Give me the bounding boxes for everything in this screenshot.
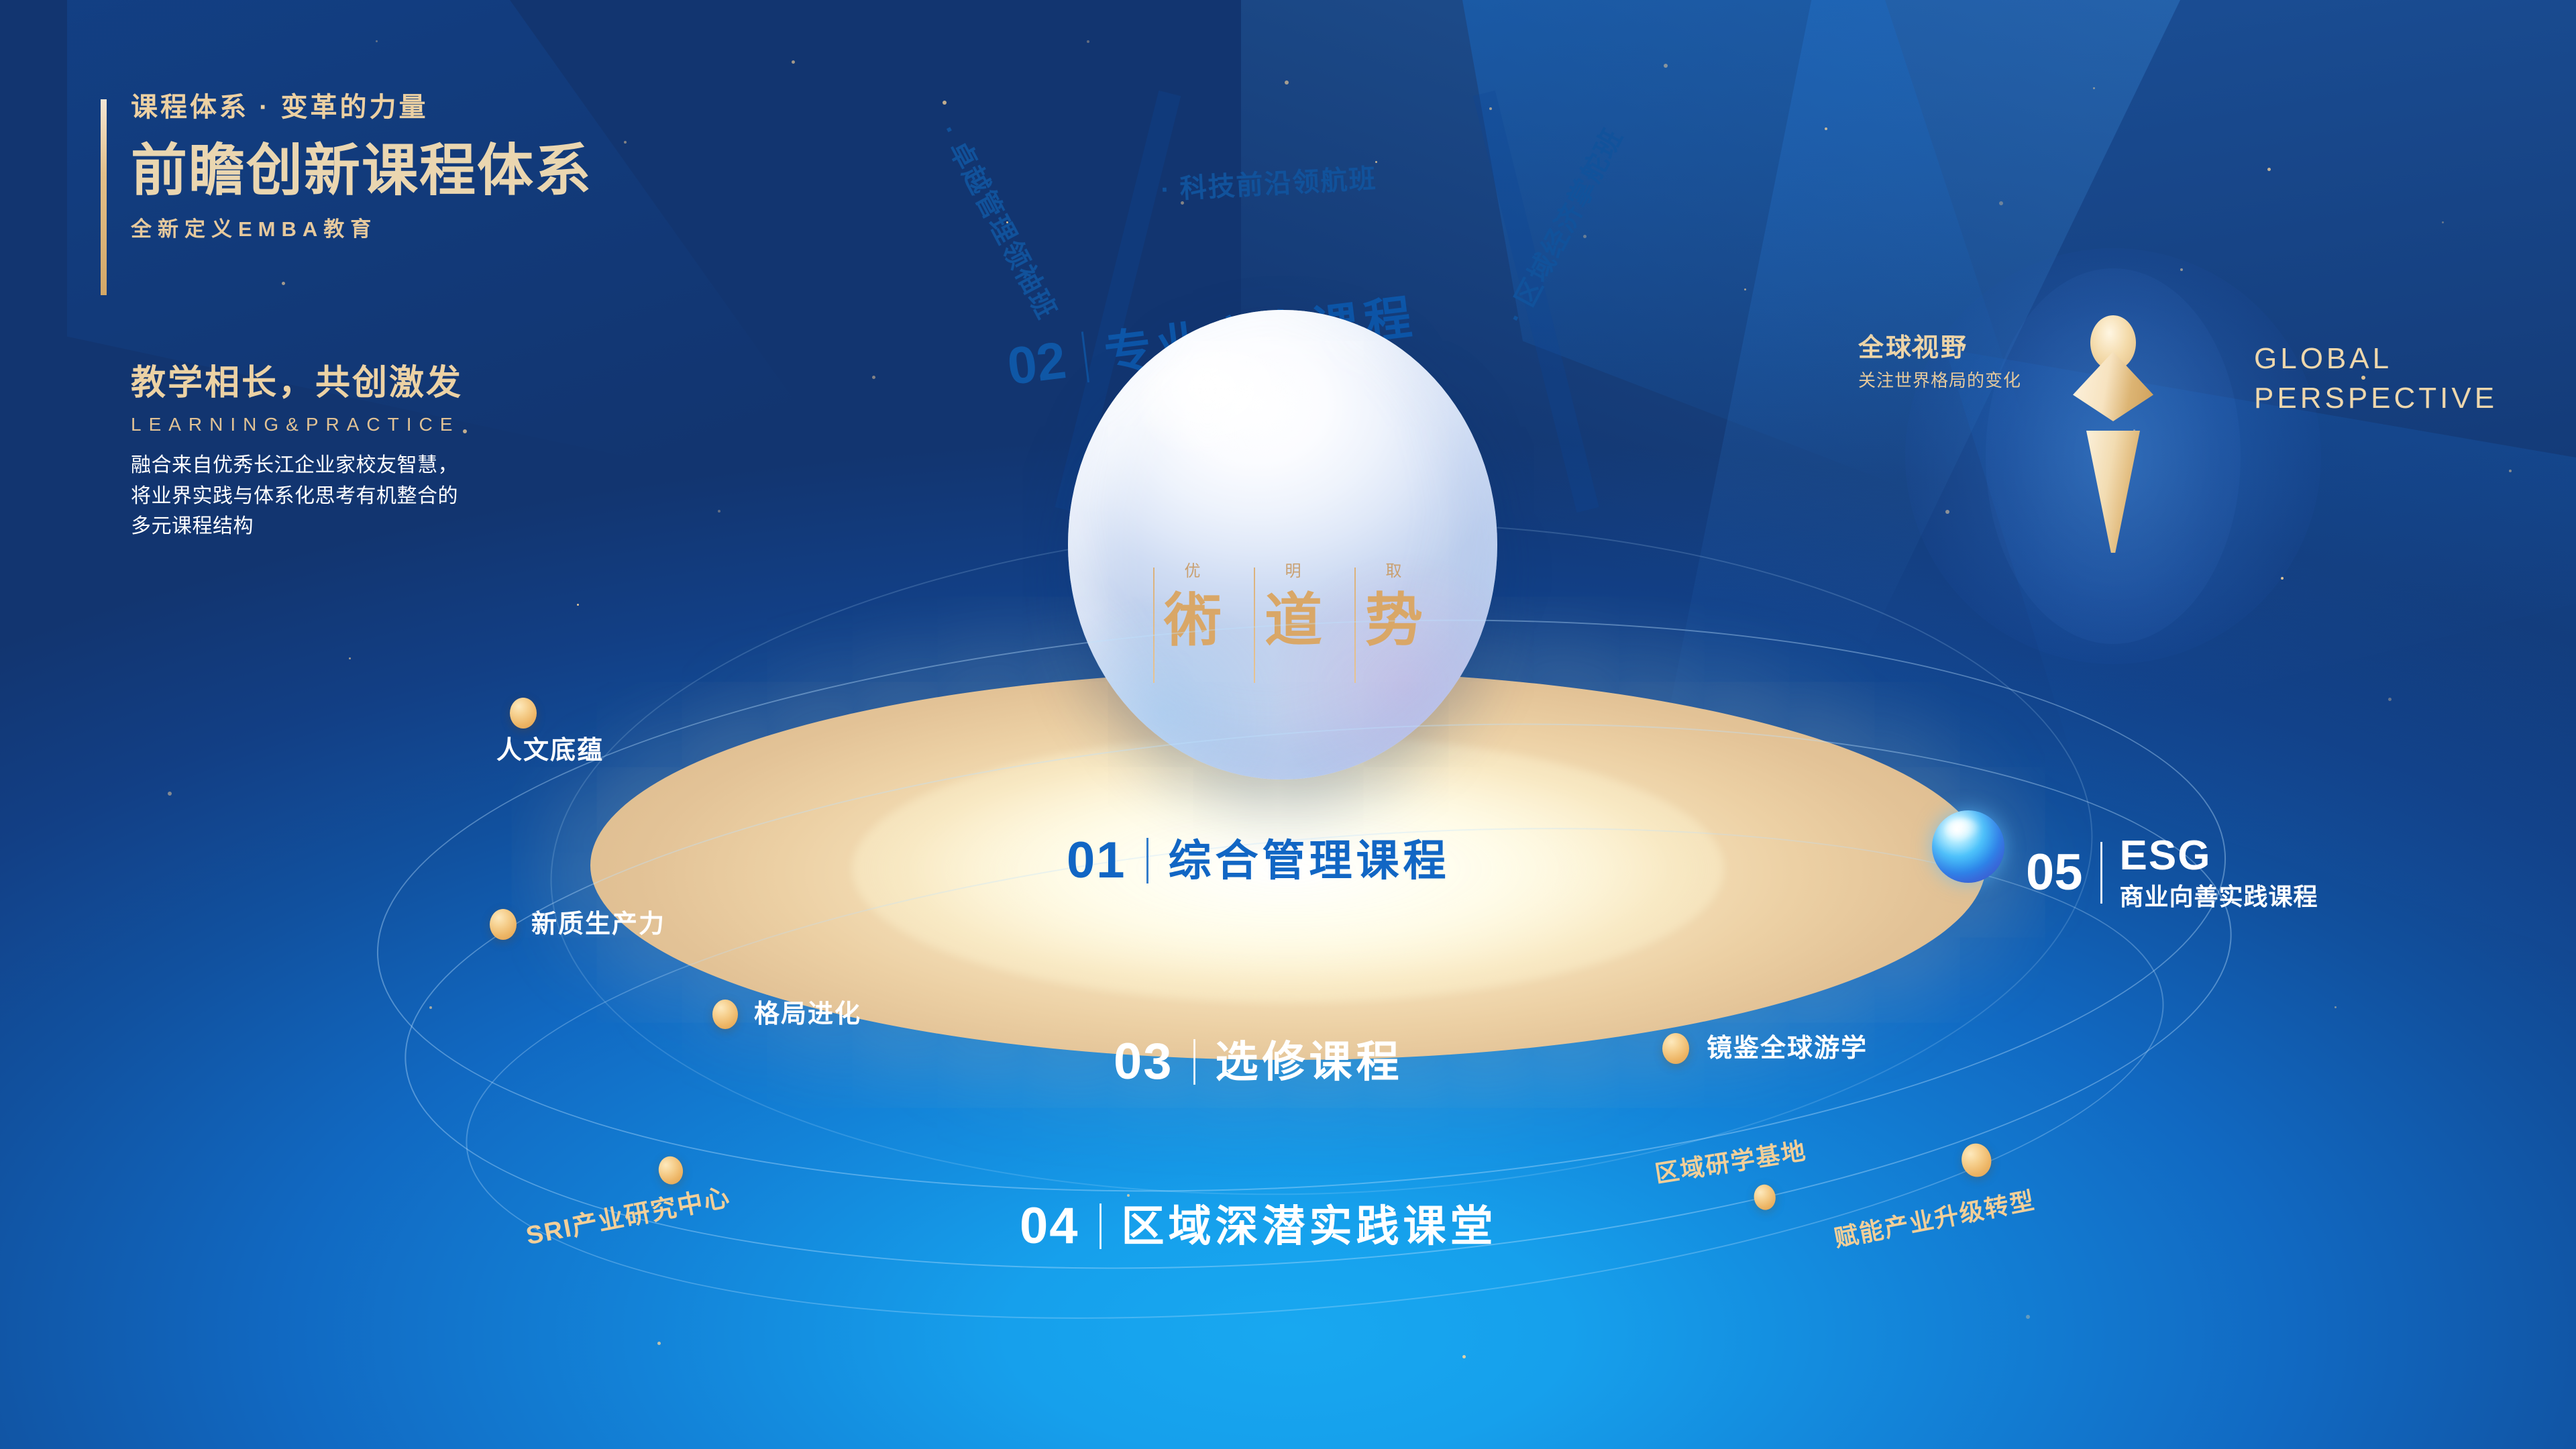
- gem-body-facet: [2086, 431, 2140, 553]
- global-perspective-title: 全球视野: [1858, 335, 2021, 361]
- global-perspective-subtitle: 关注世界格局的变化: [1858, 372, 2021, 389]
- gem-top-facet: [2073, 352, 2153, 421]
- course-number-05: 05: [2026, 847, 2083, 898]
- intro-body-line-3: 多元课程结构: [131, 511, 681, 542]
- star-dot: [1664, 64, 1668, 68]
- orbit-node-dot-icon: [712, 1000, 738, 1029]
- orbit-node-productivity[interactable]: 新质生产力: [490, 909, 665, 940]
- star-dot: [1744, 288, 1746, 290]
- course-divider-01: [1146, 838, 1148, 883]
- star-dot: [657, 1342, 661, 1345]
- course-number-04: 04: [1020, 1201, 1079, 1252]
- intro-block: 教学相长，共创激发 LEARNING&PRACTICE 融合来自优秀长江企业家校…: [131, 366, 681, 542]
- infographic-poster: · 卓越管理领袖班 · 科技前沿领航班 · 区域经济掌舵班 02 专业方向课程 …: [0, 0, 2576, 1449]
- star-dot: [2267, 168, 2271, 171]
- course-title-01: 综合管理课程: [1169, 839, 1450, 882]
- course-title-05: ESG: [2120, 835, 2318, 877]
- headline-subtitle: 全新定义EMBA教育: [131, 219, 771, 239]
- star-dot: [349, 657, 351, 659]
- orbit-node-label: 人文底蕴: [496, 738, 604, 763]
- star-dot: [872, 376, 875, 379]
- headline-block: 课程体系 · 变革的力量 前瞻创新课程体系 全新定义EMBA教育: [101, 94, 771, 239]
- course-number-03: 03: [1114, 1036, 1173, 1087]
- orbit-node-dot-icon: [1662, 1033, 1689, 1064]
- orbit-node-label: 新质生产力: [531, 912, 665, 937]
- global-perspective-english: GLOBAL PERSPECTIVE: [2254, 339, 2498, 419]
- star-dot: [1999, 201, 2003, 205]
- esg-bubble-highlight: [1945, 818, 1980, 841]
- course-label-05[interactable]: 05 ESG 商业向善实践课程: [2026, 835, 2318, 909]
- course-label-03[interactable]: 03 选修课程: [1114, 1036, 1403, 1087]
- orbit-node-global-study-tour[interactable]: 镜鉴全球游学: [1662, 1033, 1868, 1064]
- orbit-node-label: 镜鉴全球游学: [1707, 1036, 1868, 1061]
- star-dot: [718, 510, 720, 513]
- star-dot: [282, 282, 285, 285]
- star-dot: [1462, 1355, 1466, 1358]
- star-dot: [1087, 40, 1089, 43]
- central-sphere-highlight: [1140, 349, 1308, 463]
- course-divider-02: [1081, 331, 1089, 382]
- orbit-node-dot-icon: [490, 909, 517, 940]
- course-label-01[interactable]: 01 综合管理课程: [1067, 835, 1450, 886]
- course-title-03: 选修课程: [1216, 1040, 1403, 1083]
- course-number-02: 02: [1005, 333, 1069, 392]
- star-dot: [2388, 698, 2392, 701]
- headline-accent-bar: [101, 99, 107, 295]
- star-dot: [2334, 1006, 2337, 1008]
- course-divider-03: [1193, 1039, 1195, 1085]
- intro-english-label: LEARNING&PRACTICE: [131, 415, 681, 434]
- star-dot: [2026, 1315, 2030, 1319]
- star-dot: [2509, 470, 2512, 472]
- course-number-01: 01: [1067, 835, 1126, 886]
- course-title-04: 区域深潜实践课堂: [1122, 1205, 1497, 1248]
- course-subtitle-05: 商业向善实践课程: [2120, 885, 2318, 909]
- star-dot: [2442, 221, 2444, 223]
- star-dot: [376, 40, 378, 42]
- intro-body-line-2: 将业界实践与体系化思考有机整合的: [131, 481, 681, 512]
- course-divider-04: [1099, 1203, 1102, 1249]
- intro-heading: 教学相长，共创激发: [131, 366, 681, 400]
- orbit-node-label: 格局进化: [754, 1002, 861, 1027]
- intro-body-line-1: 融合来自优秀长江企业家校友智慧，: [131, 450, 681, 481]
- global-perspective-en-line-2: PERSPECTIVE: [2254, 378, 2498, 418]
- star-dot: [577, 604, 579, 606]
- course-divider-05: [2100, 842, 2102, 904]
- star-dot: [943, 101, 947, 105]
- calligraphy-small-1: 优: [1185, 563, 1201, 580]
- global-perspective-gem-icon: [2073, 315, 2153, 537]
- orbit-node-dot-icon: [510, 698, 537, 729]
- headline-kicker: 课程体系 · 变革的力量: [131, 94, 771, 121]
- course-label-04[interactable]: 04 区域深潜实践课堂: [1020, 1201, 1497, 1252]
- star-dot: [1285, 80, 1289, 85]
- orbit-node-pattern-evolution[interactable]: 格局进化: [712, 1000, 861, 1029]
- headline-title: 前瞻创新课程体系: [131, 142, 771, 199]
- star-dot: [792, 60, 795, 64]
- star-dot: [2093, 87, 2095, 89]
- global-perspective-text: 全球视野 关注世界格局的变化: [1858, 335, 2021, 389]
- calligraphy-small-3: 取: [1386, 563, 1403, 580]
- calligraphy-small-2: 明: [1285, 563, 1302, 580]
- global-perspective-en-line-1: GLOBAL: [2254, 339, 2498, 378]
- star-dot: [1825, 127, 1827, 130]
- orbit-node-humanities[interactable]: 人文底蕴: [496, 738, 604, 763]
- star-dot: [168, 792, 172, 796]
